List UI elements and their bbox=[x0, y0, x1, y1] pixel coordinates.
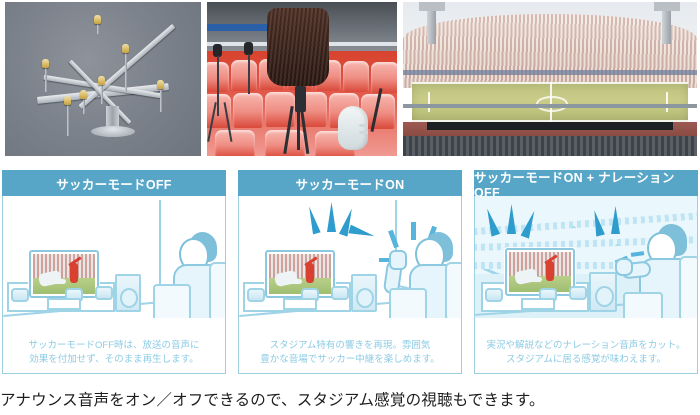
panel-soccer-mode-off: サッカーモードOFF bbox=[2, 170, 226, 374]
pitch bbox=[412, 82, 688, 122]
bottom-banner: アナウンス音声をオン／オフできるので、スタジアム感覚の視聴もできます。 bbox=[0, 383, 700, 415]
panel-header-soccer-mode-on: サッカーモードON bbox=[238, 170, 462, 196]
photo-strip bbox=[0, 0, 700, 158]
illustration-soccer-mode-on-narration-off bbox=[475, 196, 697, 318]
illustration-soccer-mode-off bbox=[3, 196, 225, 318]
bottom-banner-text: アナウンス音声をオン／オフできるので、スタジアム感覚の視聴もできます。 bbox=[0, 388, 545, 410]
panel-soccer-mode-on-narration-off: サッカーモードON + ナレーションOFF bbox=[474, 170, 698, 374]
page-root: サッカーモードOFF bbox=[0, 0, 700, 415]
panel-caption-soccer-mode-on-narration-off: 実況や解説などのナレーション音声をカット。 スタジアムに居る感覚が味わえます。 bbox=[475, 339, 697, 367]
panel-header-soccer-mode-off: サッカーモードOFF bbox=[2, 170, 226, 196]
subwoofer bbox=[115, 274, 141, 312]
windscreen-microphone bbox=[267, 8, 329, 86]
panel-soccer-mode-on: サッカーモードON bbox=[238, 170, 462, 374]
panel-caption-soccer-mode-off: サッカーモードOFF時は、放送の音声に 効果を付加せず、そのまま再生します。 bbox=[3, 339, 225, 367]
soccer-stadium-photo bbox=[403, 2, 697, 156]
stadium-seats-mic-photo bbox=[207, 2, 397, 156]
tv-set bbox=[265, 250, 335, 298]
tv-set bbox=[29, 250, 99, 298]
subwoofer bbox=[351, 274, 377, 312]
subwoofer bbox=[589, 272, 617, 312]
dummy-head-microphone bbox=[338, 106, 368, 150]
panel-header-soccer-mode-on-narration-off: サッカーモードON + ナレーションOFF bbox=[474, 170, 698, 196]
microphone-array-photo bbox=[5, 2, 201, 156]
illustration-soccer-mode-on bbox=[239, 196, 461, 318]
panel-caption-soccer-mode-on: スタジアム特有の響きを再現。雰囲気 豊かな音場でサッカー中継を楽しめます。 bbox=[239, 339, 461, 367]
